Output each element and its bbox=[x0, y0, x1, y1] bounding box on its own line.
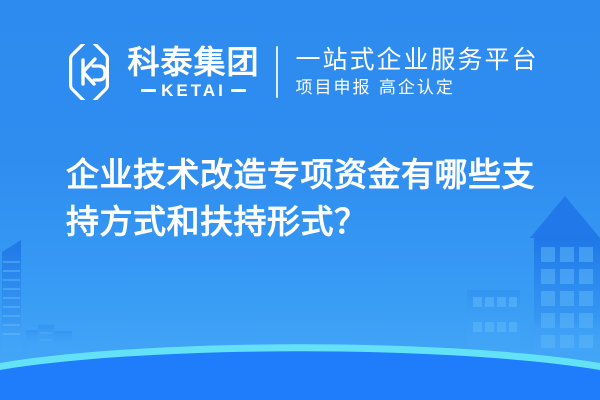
logo-chinese-name: 科泰集团 bbox=[127, 46, 259, 78]
banner-header: 科泰集团 KETAI 一站式企业服务平台 项目申报 高企认定 bbox=[0, 36, 600, 108]
logo-dash-left-icon bbox=[141, 89, 156, 92]
logo-wordmark: 科泰集团 KETAI bbox=[127, 46, 259, 99]
ketai-diamond-monogram-logo bbox=[61, 44, 117, 100]
brand-logo[interactable]: 科泰集团 KETAI bbox=[61, 44, 259, 100]
logo-english-row: KETAI bbox=[141, 82, 246, 99]
tagline-secondary: 项目申报 高企认定 bbox=[296, 79, 539, 98]
bottom-wave-divider bbox=[0, 330, 600, 400]
tagline-block: 一站式企业服务平台 项目申报 高企认定 bbox=[296, 46, 539, 98]
promo-banner: 科泰集团 KETAI 一站式企业服务平台 项目申报 高企认定 企业技术改造专项资… bbox=[0, 0, 600, 400]
tagline-primary: 一站式企业服务平台 bbox=[296, 46, 539, 74]
logo-dash-right-icon bbox=[231, 89, 246, 92]
header-divider bbox=[276, 46, 278, 98]
logo-english-name: KETAI bbox=[161, 82, 226, 99]
page-title: 企业技术改造专项资金有哪些支持方式和扶持形式？ bbox=[66, 152, 546, 246]
